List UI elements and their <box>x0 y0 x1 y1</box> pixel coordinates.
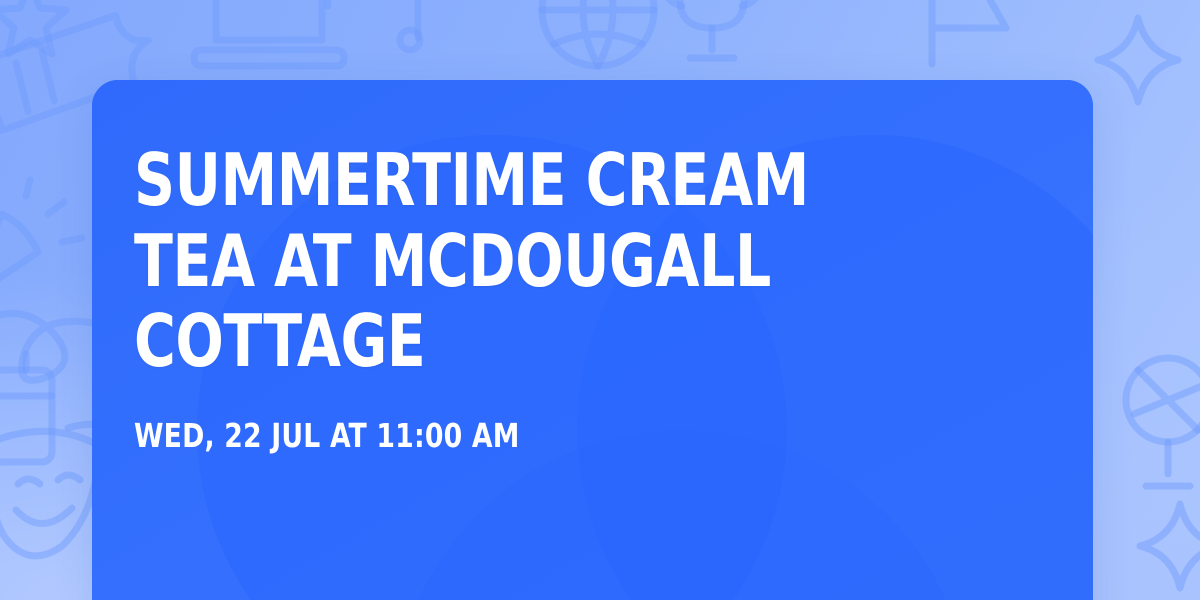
sparkle-icon <box>1098 18 1178 102</box>
star-icon <box>0 0 66 54</box>
sparkle-icon <box>1140 504 1200 588</box>
flag-icon <box>932 0 1006 64</box>
event-title: Summertime Cream Tea at McDougall Cottag… <box>134 140 941 382</box>
microphone-icon <box>1126 358 1200 486</box>
event-card-content: Summertime Cream Tea at McDougall Cottag… <box>134 140 1051 455</box>
event-banner: Summertime Cream Tea at McDougall Cottag… <box>0 0 1200 600</box>
laptop-icon <box>194 0 344 66</box>
music-note-icon <box>400 0 452 50</box>
globe-icon <box>542 0 654 66</box>
party-popper-icon <box>0 180 82 306</box>
event-datetime: Wed, 22 Jul at 11:00 AM <box>134 416 959 456</box>
trophy-icon <box>662 0 762 58</box>
calendar-icon <box>0 354 52 462</box>
event-card[interactable]: Summertime Cream Tea at McDougall Cottag… <box>92 80 1093 600</box>
